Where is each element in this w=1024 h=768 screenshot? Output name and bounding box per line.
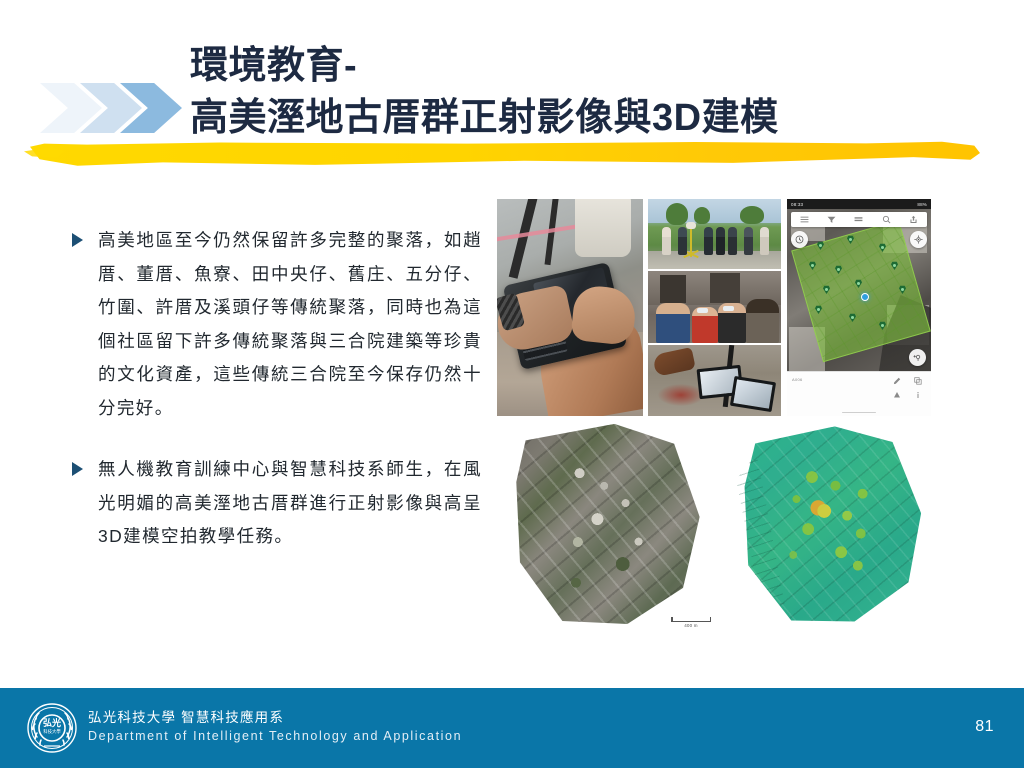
- photo-face-mask: [723, 306, 734, 311]
- photo-tree: [666, 203, 688, 225]
- yellow-brush-divider: [30, 141, 980, 167]
- photo-instructor-students: [648, 271, 781, 343]
- photo-ground-marker: [648, 345, 781, 416]
- photo-person: [678, 227, 687, 255]
- photo-shoe: [652, 347, 696, 377]
- map-bottom-sheet[interactable]: A006: [787, 371, 931, 416]
- triangle-bullet-icon: [72, 453, 98, 476]
- photo-tree: [694, 207, 710, 224]
- slide-footer: 弘光 科技大學 弘光科技大學 智慧科技應用系 Department of Int…: [0, 688, 1024, 768]
- list-item: 高美地區至今仍然保留許多完整的聚落，如趙厝、董厝、魚寮、田中央仔、舊庄、五分仔、…: [72, 224, 482, 425]
- status-battery: 88%: [917, 202, 927, 207]
- ortho-scale-bar: 400 m: [671, 617, 711, 629]
- photo-red-paint: [658, 384, 704, 406]
- map-canvas[interactable]: [787, 209, 931, 371]
- photo-pole: [509, 199, 539, 279]
- title-line-1: 環境教育-: [190, 40, 1010, 92]
- footer-org: 弘光科技大學 智慧科技應用系 Department of Intelligent…: [88, 708, 462, 745]
- photo-student: [746, 299, 779, 343]
- photo-rugged-tablet: [497, 199, 643, 416]
- locate-icon[interactable]: [910, 231, 927, 248]
- photo-doorway: [660, 275, 686, 303]
- photo-person-leg: [575, 199, 631, 257]
- photo-person: [716, 227, 725, 255]
- copy-icon[interactable]: [914, 377, 922, 385]
- svg-text:科技大學: 科技大學: [43, 728, 61, 735]
- measure-icon[interactable]: [893, 391, 901, 399]
- footer-org-cn: 弘光科技大學 智慧科技應用系: [88, 708, 462, 727]
- history-icon[interactable]: [791, 231, 808, 248]
- search-icon[interactable]: [882, 215, 891, 224]
- bullet-text-2: 無人機教育訓練中心與智慧科技系師生，在風光明媚的高美溼地古厝群進行正射影像與高呈…: [98, 453, 482, 554]
- page-title: 環境教育- 高美溼地古厝群正射影像與3D建模: [190, 40, 1010, 144]
- add-point-icon[interactable]: [909, 349, 926, 366]
- title-line-2: 高美溼地古厝群正射影像與3D建模: [190, 92, 1010, 144]
- sheet-label: A006: [792, 377, 803, 382]
- photo-face-mask: [697, 308, 708, 313]
- info-icon[interactable]: [914, 391, 922, 399]
- layers-icon[interactable]: [854, 215, 863, 224]
- photo-tablet-screen: [730, 376, 776, 412]
- scale-label: 400 m: [671, 623, 711, 628]
- bullet-list: 高美地區至今仍然保留許多完整的聚落，如趙厝、董厝、魚寮、田中央仔、舊庄、五分仔、…: [72, 224, 482, 582]
- photo-person: [704, 227, 713, 255]
- svg-text:弘光: 弘光: [43, 717, 61, 728]
- photo-field-group: [648, 199, 781, 269]
- triangle-bullet-icon: [72, 224, 98, 247]
- edit-icon[interactable]: [893, 377, 901, 385]
- bullet-text-1: 高美地區至今仍然保留許多完整的聚落，如趙厝、董厝、魚寮、田中央仔、舊庄、五分仔、…: [98, 224, 482, 425]
- list-icon[interactable]: [800, 215, 809, 224]
- home-indicator: [842, 412, 877, 414]
- photo-tree: [740, 206, 764, 224]
- photo-person: [728, 227, 737, 255]
- photo-person: [744, 227, 753, 255]
- map-toolbar[interactable]: [791, 212, 927, 227]
- 3d-mesh-model: [724, 422, 939, 640]
- photo-person: [760, 227, 769, 255]
- orthophoto-aerial-mosaic: 400 m: [500, 422, 715, 640]
- photo-doorway: [710, 273, 740, 303]
- share-icon[interactable]: [909, 215, 918, 224]
- photo-collage: 08:33 88%: [497, 199, 931, 416]
- current-location-icon: [861, 293, 869, 301]
- photo-instructor: [656, 303, 690, 343]
- photo-pink-line: [497, 224, 579, 241]
- photo-gnss-receiver: [686, 222, 696, 229]
- photo-right-hand: [570, 284, 638, 346]
- phone-status-bar: 08:33 88%: [787, 199, 931, 209]
- hungkuang-university-seal: 弘光 科技大學: [26, 702, 78, 754]
- ortho-buildings: [499, 414, 713, 638]
- page-number: 81: [975, 718, 994, 736]
- footer-org-en: Department of Intelligent Technology and…: [88, 727, 462, 745]
- photo-survey-tripod: [690, 227, 692, 257]
- status-clock: 08:33: [791, 202, 803, 207]
- chevron-decoration: [40, 83, 180, 133]
- photo-person: [662, 227, 671, 255]
- list-item: 無人機教育訓練中心與智慧科技系師生，在風光明媚的高美溼地古厝群進行正射影像與高呈…: [72, 453, 482, 554]
- filter-icon[interactable]: [827, 215, 836, 224]
- mobile-map-screenshot: 08:33 88%: [787, 199, 931, 416]
